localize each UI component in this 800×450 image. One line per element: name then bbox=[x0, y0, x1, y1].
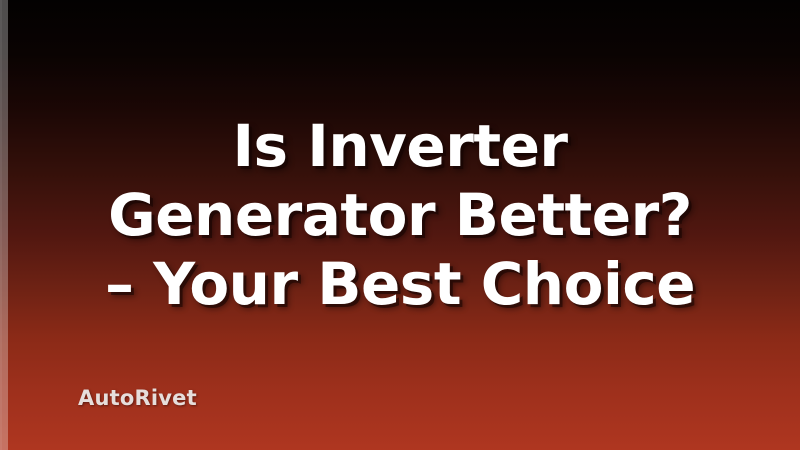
page-title: Is Inverter Generator Better? – Your Bes… bbox=[0, 112, 800, 319]
brand-wordmark: AutoRivet bbox=[78, 386, 197, 410]
article-thumbnail-banner: Is Inverter Generator Better? – Your Bes… bbox=[0, 0, 800, 450]
headline-line-2: Generator Better? bbox=[24, 181, 776, 250]
headline-line-3: – Your Best Choice bbox=[24, 250, 776, 319]
headline-line-1: Is Inverter bbox=[24, 112, 776, 181]
